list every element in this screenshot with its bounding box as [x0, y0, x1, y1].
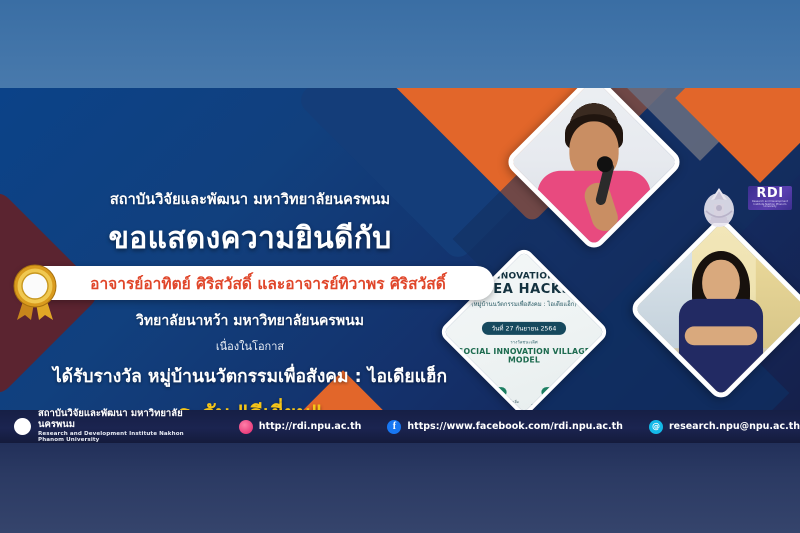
- facebook-icon: f: [387, 420, 401, 434]
- footer-institute-en: Research and Development Institute Nakho…: [38, 431, 203, 444]
- footer-email-text: research.npu@npu.ac.th: [669, 421, 800, 432]
- footer-institute-th: สถาบันวิจัยและพัฒนา มหาวิทยาลัยนครพนม: [38, 409, 203, 431]
- photo-detail-arms: [685, 327, 758, 346]
- npu-university-crest-icon: [700, 184, 738, 230]
- footer-website-link[interactable]: http://rdi.npu.ac.th: [239, 420, 362, 434]
- email-icon: @: [649, 420, 663, 434]
- footer-email-link[interactable]: @ research.npu@npu.ac.th: [649, 420, 800, 434]
- rdi-logo: RDI Research and Development Institute N…: [748, 186, 792, 210]
- award-line: ได้รับรางวัล หมู่บ้านนวัตกรรมเพื่อสังคม …: [0, 362, 500, 390]
- college-line: วิทยาลัยนาหว้า มหาวิทยาลัยนครพนม: [0, 310, 500, 332]
- footer-facebook-text: https://www.facebook.com/rdi.npu.ac.th: [407, 421, 623, 432]
- congratulations-heading: ขอแสดงความยินดีกับ: [0, 215, 500, 262]
- organization-line: สถาบันวิจัยและพัฒนา มหาวิทยาลัยนครพนม: [0, 188, 500, 211]
- occasion-line: เนื่องในโอกาส: [0, 337, 500, 355]
- rdi-logo-subtext: Research and Development Institute Nakho…: [748, 201, 792, 209]
- congratulation-banner: AL INNOVATION VIL IDEA HACKS (หมู่บ้านนว…: [0, 88, 800, 443]
- footer-institute: สถาบันวิจัยและพัฒนา มหาวิทยาลัยนครพนม Re…: [0, 409, 203, 444]
- institute-logo-icon: [14, 418, 31, 435]
- banner-text-column: สถาบันวิจัยและพัฒนา มหาวิทยาลัยนครพนม ขอ…: [0, 176, 500, 443]
- footer-facebook-link[interactable]: f https://www.facebook.com/rdi.npu.ac.th: [387, 420, 623, 434]
- rdi-logo-text: RDI: [756, 187, 783, 200]
- globe-icon: [239, 420, 253, 434]
- footer-website-text: http://rdi.npu.ac.th: [259, 421, 362, 432]
- gold-award-rosette-icon: [6, 260, 66, 322]
- page-backdrop-lower: [0, 443, 800, 533]
- contact-footer-bar: สถาบันวิจัยและพัฒนา มหาวิทยาลัยนครพนม Re…: [0, 410, 800, 443]
